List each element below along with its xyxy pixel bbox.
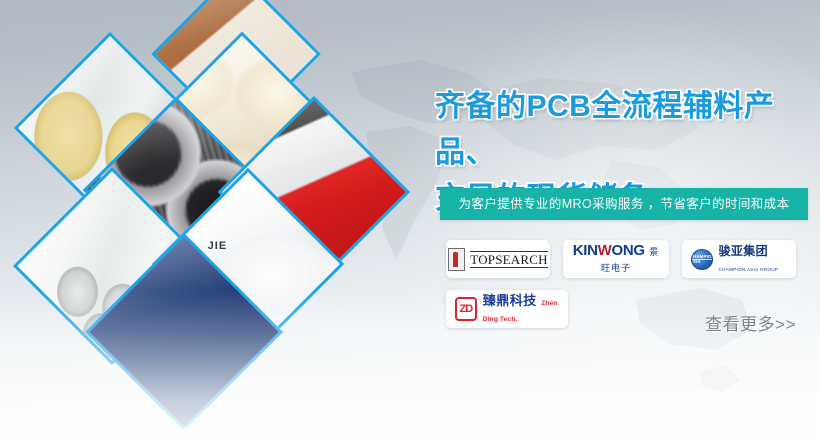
kinwong-word-part1: KIN — [573, 242, 598, 259]
kinwong-word-part2: W — [598, 242, 612, 259]
champion-text: 骏亚集团 CHAMPION ASIA GROUP — [718, 243, 787, 275]
kinwong-lockup: KINWONG 景旺电子 — [572, 243, 660, 275]
partner-logo-champion-asia[interactable]: CHAMPION ASIA 骏亚集团 CHAMPION ASIA GROUP — [682, 240, 796, 278]
topsearch-mark-icon — [448, 248, 465, 271]
banner-content: 齐备的PCB全流程辅料产品、 充足的现货储备 为客户提供专业的MRO采购服务 ，… — [432, 0, 820, 440]
zhending-chinese-name: 臻鼎科技 — [483, 293, 537, 308]
partner-logo-zhen-ding[interactable]: ZD 臻鼎科技 Zhen Ding Tech. — [446, 290, 568, 328]
kinwong-word-part3: ONG — [612, 242, 645, 259]
champion-lockup: CHAMPION ASIA 骏亚集团 CHAMPION ASIA GROUP — [691, 243, 787, 275]
banner-subtitle: 为客户提供专业的MRO采购服务 ，节省客户的时间和成本 — [440, 188, 808, 220]
zhending-mark-icon: ZD — [455, 297, 477, 321]
globe-icon: CHAMPION ASIA — [691, 249, 713, 270]
tile-label-text: JIE — [208, 240, 228, 252]
zhending-text: 臻鼎科技 Zhen Ding Tech. — [483, 293, 559, 325]
zhending-lockup: ZD 臻鼎科技 Zhen Ding Tech. — [455, 293, 559, 325]
champion-latin-name: CHAMPION ASIA GROUP — [718, 267, 778, 272]
product-diamond-grid: JIE — [0, 0, 440, 440]
promo-banner: JIE 齐备的PCB全流程辅料产品、 充足的现货储备 为客户提供专业的MRO采购… — [0, 0, 820, 440]
topsearch-wordmark: TOPSEARCH — [470, 251, 547, 268]
globe-label: CHAMPION ASIA — [692, 250, 712, 269]
view-more-link[interactable]: 查看更多>> — [705, 310, 796, 335]
topsearch-lockup: TOPSEARCH — [448, 248, 547, 271]
partner-logo-topsearch[interactable]: TOPSEARCH — [446, 240, 550, 278]
kinwong-wordmark: KINWONG — [573, 242, 645, 259]
champion-chinese-name: 骏亚集团 — [718, 244, 768, 258]
partner-logo-kinwong[interactable]: KINWONG 景旺电子 — [563, 240, 669, 278]
